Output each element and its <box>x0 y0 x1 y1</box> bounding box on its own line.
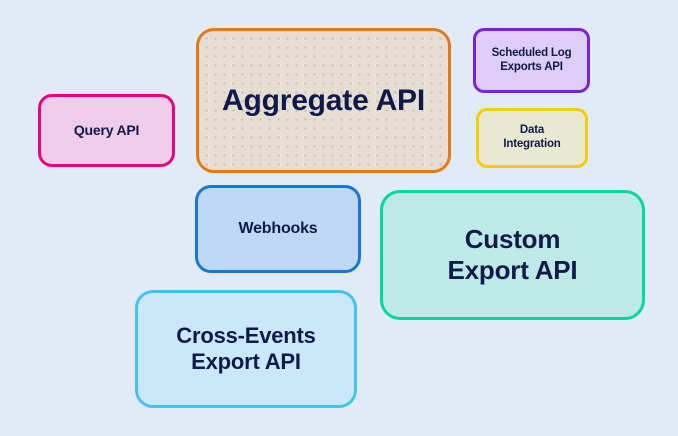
node-cross-events-export-api[interactable]: Cross-Events Export API <box>135 290 357 408</box>
diagram-canvas: Query API Aggregate API Scheduled Log Ex… <box>0 0 678 436</box>
node-cross-events-export-api-label: Cross-Events Export API <box>170 323 321 376</box>
node-custom-export-api[interactable]: Custom Export API <box>380 190 645 320</box>
node-webhooks-label: Webhooks <box>232 219 323 238</box>
node-scheduled-log-exports-api[interactable]: Scheduled Log Exports API <box>473 28 590 93</box>
node-scheduled-log-exports-api-label: Scheduled Log Exports API <box>486 47 578 75</box>
node-data-integration[interactable]: Data Integration <box>476 108 588 168</box>
node-query-api[interactable]: Query API <box>38 94 175 167</box>
node-aggregate-api[interactable]: Aggregate API <box>196 28 451 173</box>
node-aggregate-api-label: Aggregate API <box>216 83 431 119</box>
node-data-integration-label: Data Integration <box>497 124 566 152</box>
node-webhooks[interactable]: Webhooks <box>195 185 361 273</box>
node-custom-export-api-label: Custom Export API <box>442 224 584 286</box>
node-query-api-label: Query API <box>68 122 145 139</box>
